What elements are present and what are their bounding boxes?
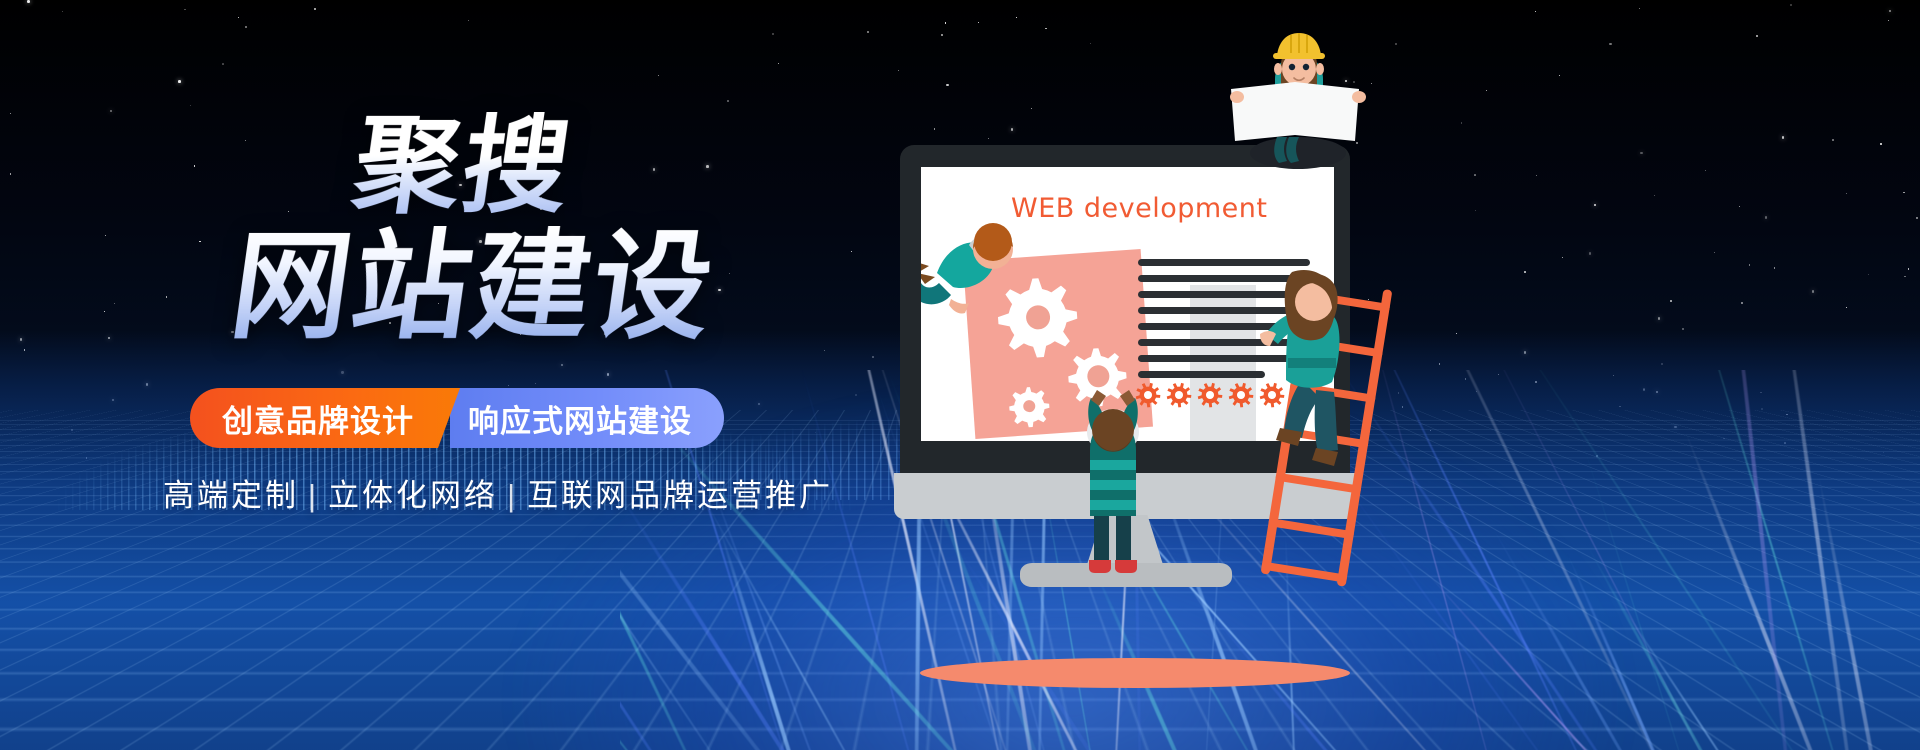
ladder-step xyxy=(1268,518,1354,539)
tagline-part-3: 互联网品牌运营推广 xyxy=(527,478,833,513)
architect-woman-icon xyxy=(1225,25,1375,185)
tagline-part-1: 高端定制 xyxy=(163,478,299,513)
tagline-separator-2: | xyxy=(507,478,518,513)
headline-block: 聚搜 网站建设 创意品牌设计 响应式网站建设 高端定制|立体化网络|互联网品牌运… xyxy=(0,0,960,750)
figure-architect-woman xyxy=(1225,25,1375,175)
gear-icon xyxy=(1197,382,1223,408)
headline-bottom: 网站建设 xyxy=(225,226,722,346)
hero-banner: 聚搜 网站建设 创意品牌设计 响应式网站建设 高端定制|立体化网络|互联网品牌运… xyxy=(0,0,1920,750)
figure-woman-on-ladder xyxy=(1258,262,1388,512)
illustration-scene: WEB development xyxy=(880,0,1920,750)
pill-creative-brand-design[interactable]: 创意品牌设计 xyxy=(190,388,460,448)
figure-child xyxy=(1058,370,1148,570)
tagline-separator-1: | xyxy=(308,478,319,513)
feature-pill-group: 创意品牌设计 响应式网站建设 xyxy=(190,388,724,448)
figure-designer-leaning xyxy=(921,215,1057,345)
pill-responsive-website[interactable]: 响应式网站建设 xyxy=(450,388,724,448)
headline-top: 聚搜 xyxy=(347,112,578,220)
ladder-step xyxy=(1261,561,1347,582)
gear-icon xyxy=(1166,382,1192,408)
ground-ellipse xyxy=(920,658,1350,688)
tagline: 高端定制|立体化网络|互联网品牌运营推广 xyxy=(163,470,833,515)
gear-icon xyxy=(1228,382,1254,408)
tagline-part-2: 立体化网络 xyxy=(328,478,498,513)
child-icon xyxy=(1058,370,1168,580)
